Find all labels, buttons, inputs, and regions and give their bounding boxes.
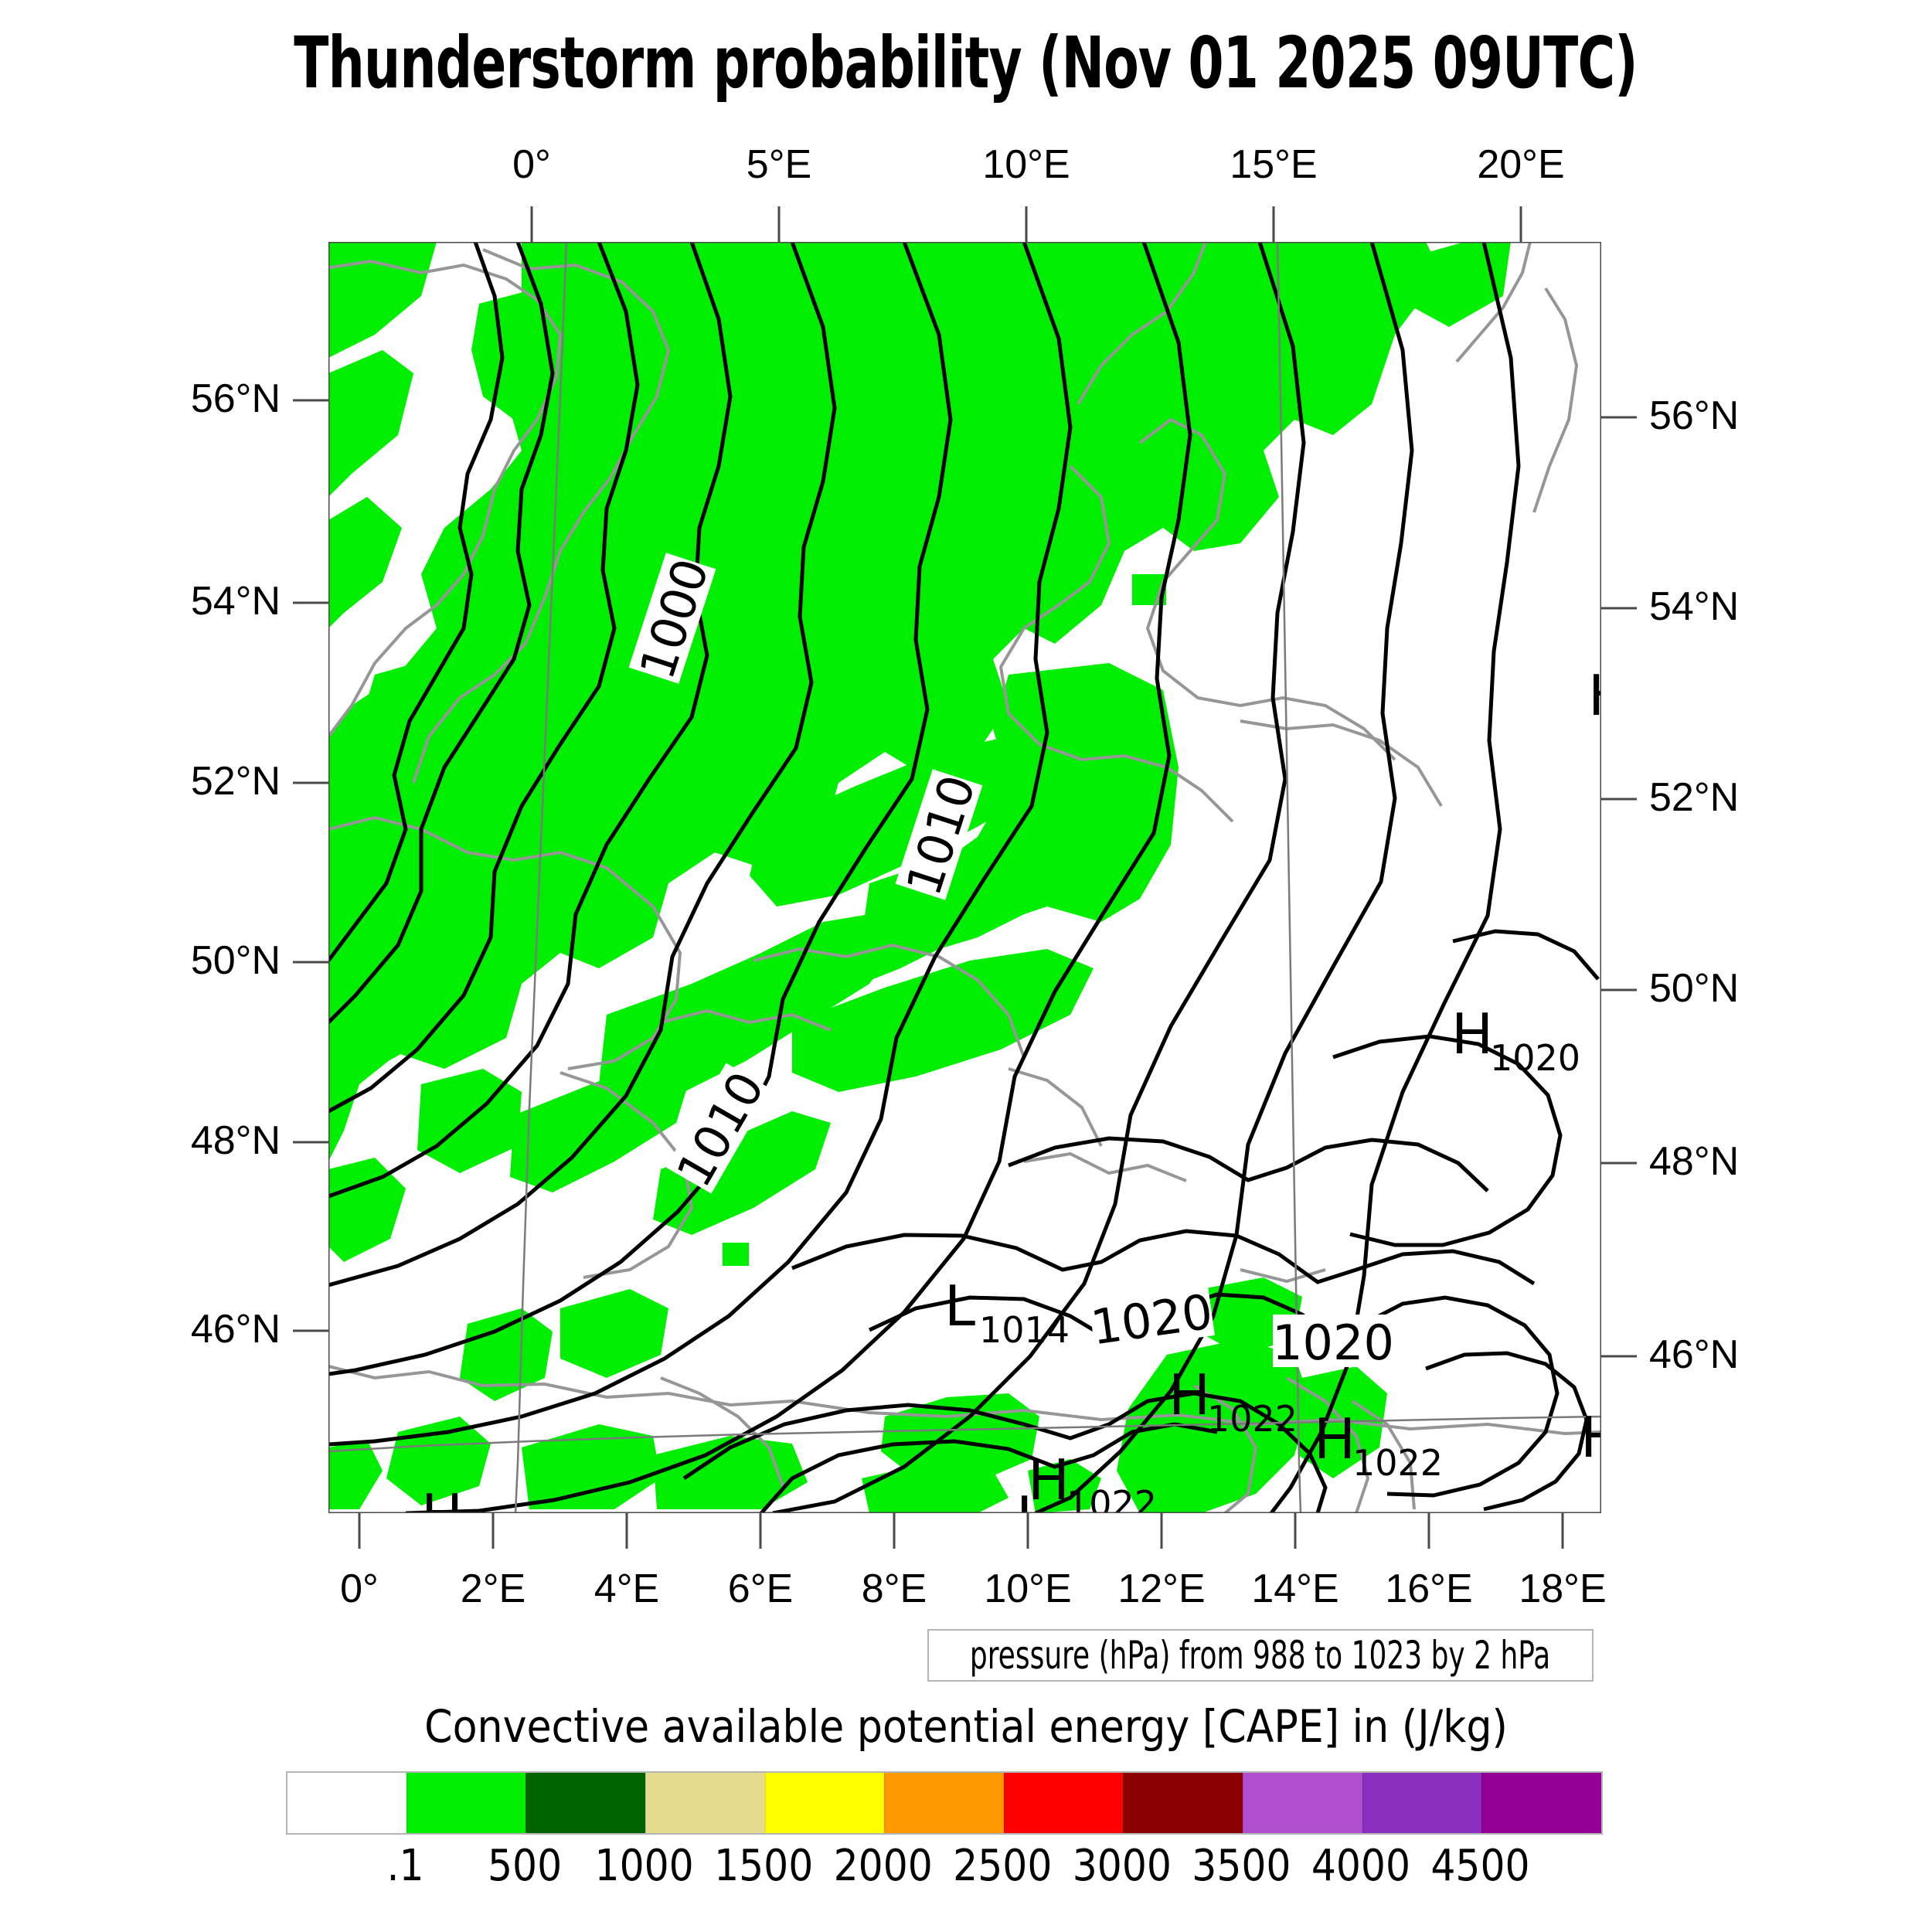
colorbar-tick-label: .1 xyxy=(387,1841,424,1891)
svg-text:L: L xyxy=(1016,1485,1047,1513)
axis-tick-label: 46°N xyxy=(1649,1332,1739,1378)
colorbar-cell-9[interactable] xyxy=(1362,1773,1482,1833)
axis-tick-label: 50°N xyxy=(1649,965,1739,1012)
cape-colorbar[interactable] xyxy=(286,1771,1603,1835)
axis-tick-label: 50°N xyxy=(191,937,281,984)
colorbar-cell-4[interactable] xyxy=(765,1773,885,1833)
svg-text:1014: 1014 xyxy=(979,1309,1070,1351)
colorbar-cell-6[interactable] xyxy=(1004,1773,1124,1833)
axis-tick-label: 10°E xyxy=(984,1566,1071,1612)
svg-text:L: L xyxy=(944,1274,975,1338)
svg-text:1022: 1022 xyxy=(1207,1398,1298,1440)
axis-tick-label: 2°E xyxy=(461,1566,526,1612)
axis-tick-label: 10°E xyxy=(982,141,1070,188)
axis-tick-label: 8°E xyxy=(862,1566,927,1612)
axis-tick-label: 56°N xyxy=(1649,393,1739,439)
svg-text:H: H xyxy=(1588,663,1601,728)
axis-tick-label: 52°N xyxy=(191,758,281,804)
pressure-note-text: pressure (hPa) from 988 to 1023 by 2 hPa xyxy=(970,1633,1550,1678)
axis-tick-label: 0° xyxy=(340,1566,379,1612)
colorbar-cell-1[interactable] xyxy=(406,1773,526,1833)
colorbar-caption: Convective available potential energy [C… xyxy=(0,1700,1932,1753)
colorbar-tick-label: 4000 xyxy=(1311,1841,1410,1891)
map-svg[interactable]: 1000 1010 1010 1020 1020 H1020 H1022 H10… xyxy=(328,242,1601,1513)
cape-colorbar-labels: .150010001500200025003000350040004500 xyxy=(286,1841,1600,1896)
colorbar-tick-label: 3500 xyxy=(1192,1841,1291,1891)
axis-tick-label: 14°E xyxy=(1251,1566,1338,1612)
page-title: Thunderstorm probability (Nov 01 2025 09… xyxy=(0,22,1932,104)
svg-text:1020: 1020 xyxy=(1490,1037,1580,1079)
axis-tick-label: 20°E xyxy=(1477,141,1564,188)
colorbar-cell-10[interactable] xyxy=(1481,1773,1601,1833)
svg-text:1022: 1022 xyxy=(1066,1483,1157,1513)
svg-text:1020: 1020 xyxy=(1272,1315,1394,1371)
axis-tick-label: 16°E xyxy=(1385,1566,1472,1612)
colorbar-tick-label: 1000 xyxy=(595,1841,694,1891)
axis-tick-label: 46°N xyxy=(191,1306,281,1352)
axis-tick-label: 15°E xyxy=(1230,141,1317,188)
page-title-text: Thunderstorm probability (Nov 01 2025 09… xyxy=(294,22,1638,104)
axis-tick-label: 48°N xyxy=(191,1117,281,1164)
colorbar-cell-5[interactable] xyxy=(884,1773,1004,1833)
axis-tick-label: 5°E xyxy=(747,141,811,188)
axis-tick-label: 12°E xyxy=(1117,1566,1205,1612)
axis-tick-label: 18°E xyxy=(1519,1566,1606,1612)
colorbar-tick-label: 4500 xyxy=(1430,1841,1529,1891)
axis-tick-label: 6°E xyxy=(728,1566,793,1612)
svg-text:H: H xyxy=(421,1482,463,1513)
axis-tick-label: 0° xyxy=(512,141,551,188)
axis-tick-label: 54°N xyxy=(1649,583,1739,630)
axis-tick-label: 56°N xyxy=(191,376,281,422)
map-plot[interactable]: 1000 1010 1010 1020 1020 H1020 H1022 H10… xyxy=(328,242,1601,1513)
colorbar-caption-text: Convective available potential energy [C… xyxy=(424,1700,1508,1753)
axis-tick-label: 54°N xyxy=(191,578,281,624)
svg-text:H: H xyxy=(1314,1406,1355,1471)
pressure-note-box: pressure (hPa) from 988 to 1023 by 2 hPa xyxy=(927,1629,1594,1682)
colorbar-tick-label: 3000 xyxy=(1073,1841,1172,1891)
svg-text:H: H xyxy=(1580,1405,1601,1470)
colorbar-cell-7[interactable] xyxy=(1123,1773,1243,1833)
axis-tick-label: 4°E xyxy=(594,1566,659,1612)
colorbar-tick-label: 2500 xyxy=(953,1841,1052,1891)
axis-tick-label: 48°N xyxy=(1649,1138,1739,1185)
svg-text:H: H xyxy=(1451,1002,1493,1066)
svg-text:1022: 1022 xyxy=(1352,1442,1443,1484)
axis-tick-label: 52°N xyxy=(1649,774,1739,821)
colorbar-cell-2[interactable] xyxy=(526,1773,645,1833)
svg-text:H: H xyxy=(1168,1362,1210,1427)
colorbar-cell-0[interactable] xyxy=(287,1773,406,1833)
colorbar-tick-label: 500 xyxy=(488,1841,562,1891)
colorbar-cell-8[interactable] xyxy=(1243,1773,1362,1833)
colorbar-cell-3[interactable] xyxy=(645,1773,765,1833)
colorbar-tick-label: 1500 xyxy=(714,1841,813,1891)
colorbar-tick-label: 2000 xyxy=(834,1841,933,1891)
